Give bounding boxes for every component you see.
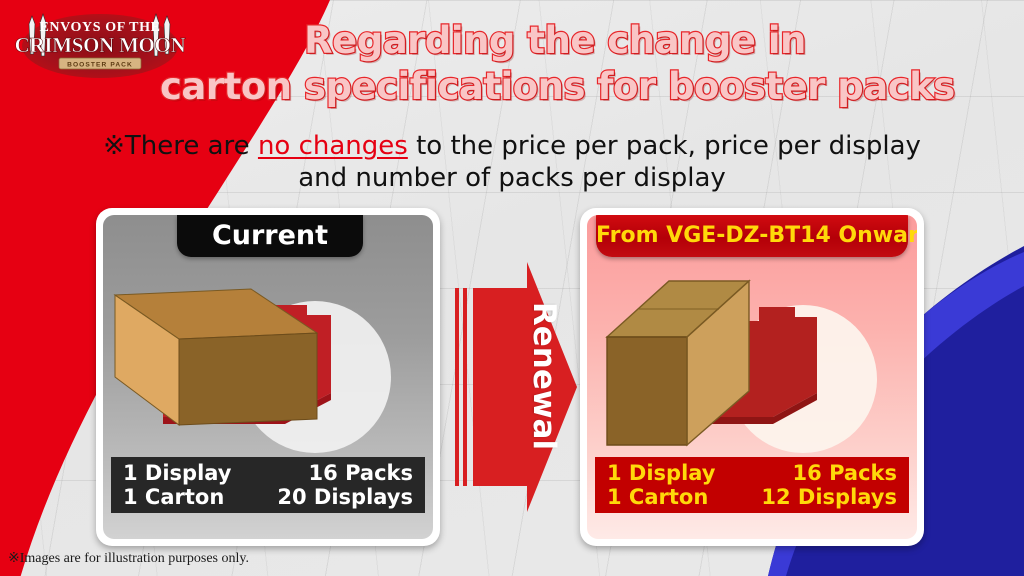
panel-new-footer-row1: 1 Display 16 Packs <box>607 461 897 485</box>
current-packs-value: 16 Packs <box>309 461 413 485</box>
badge-current: Current <box>177 215 363 257</box>
badge-new-spec: From VGE-DZ-BT14 Onward <box>596 215 908 257</box>
disclaimer-note: ※Images are for illustration purposes on… <box>8 550 249 567</box>
panel-new-body: From VGE-DZ-BT14 Onward 1 Display 16 Pac… <box>587 215 917 539</box>
panel-current: Current 1 Display 16 Packs 1 Carton 20 D… <box>96 208 440 546</box>
panel-new-artwork <box>587 259 917 467</box>
panel-new-footer-row2: 1 Carton 12 Displays <box>607 485 897 509</box>
panel-current-footer-row1: 1 Display 16 Packs <box>123 461 413 485</box>
subtitle-before: There are <box>125 131 258 161</box>
page-title: Regarding the change in carton specifica… <box>160 18 950 110</box>
panel-new-footer: 1 Display 16 Packs 1 Carton 12 Displays <box>595 457 909 513</box>
subtitle-after: to the price per pack, price per display <box>408 131 921 161</box>
panel-current-footer-row2: 1 Carton 20 Displays <box>123 485 413 509</box>
panel-new: From VGE-DZ-BT14 Onward 1 Display 16 Pac… <box>580 208 924 546</box>
panel-current-body: Current 1 Display 16 Packs 1 Carton 20 D… <box>103 215 433 539</box>
logo-banner: BOOSTER PACK <box>67 62 133 69</box>
new-display-label: 1 Display <box>607 461 716 485</box>
subtitle: ※There are no changes to the price per p… <box>62 130 962 194</box>
new-packs-value: 16 Packs <box>793 461 897 485</box>
current-carton-label: 1 Carton <box>123 485 224 509</box>
subtitle-highlight: no changes <box>258 131 408 161</box>
page-title-line1: Regarding the change in <box>160 18 950 64</box>
renewal-arrow-shape <box>455 262 580 512</box>
panel-current-footer: 1 Display 16 Packs 1 Carton 20 Displays <box>111 457 425 513</box>
current-display-label: 1 Display <box>123 461 232 485</box>
renewal-arrow: Renewal <box>455 262 580 512</box>
slide-canvas: ENVOYS OF THE CRIMSON MOON BOOSTER PACK … <box>0 0 1024 576</box>
current-displays-value: 20 Displays <box>277 485 413 509</box>
new-displays-value: 12 Displays <box>761 485 897 509</box>
subtitle-mark: ※ <box>103 131 125 161</box>
page-title-line2: carton specifications for booster packs <box>160 64 950 110</box>
subtitle-line2: and number of packs per display <box>62 162 962 194</box>
new-carton-label: 1 Carton <box>607 485 708 509</box>
panel-current-artwork <box>103 259 433 467</box>
